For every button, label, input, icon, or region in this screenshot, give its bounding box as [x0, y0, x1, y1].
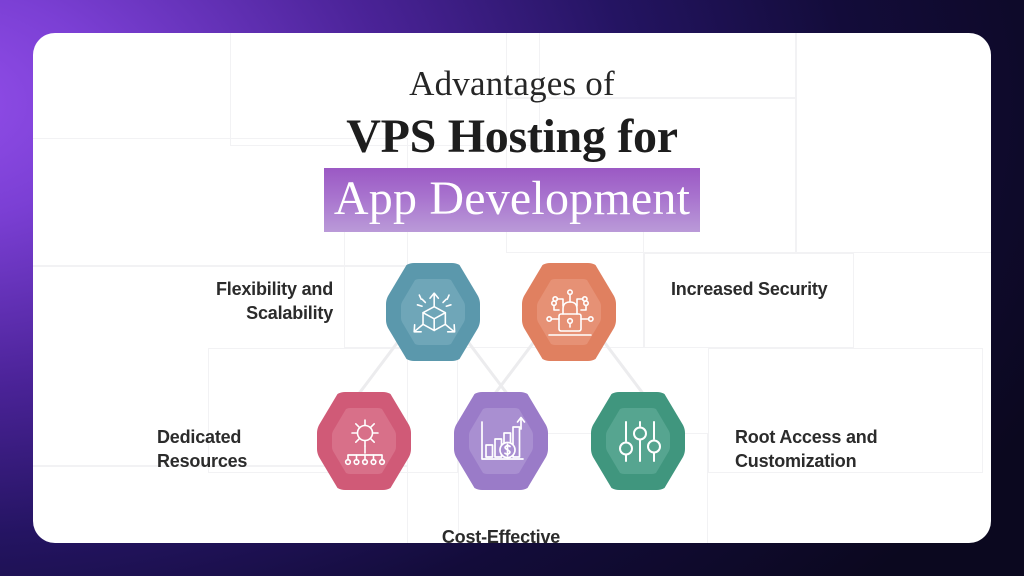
hexagon-cost-effective[interactable] [448, 388, 554, 494]
infographic-card: Advantages of VPS Hosting for App Develo… [33, 33, 991, 543]
label-increased-security: Increased Security [671, 278, 931, 302]
hexagon-root-access-and-customization[interactable] [585, 388, 691, 494]
hexagon-increased-security[interactable] [516, 259, 622, 365]
label-dedicated-resources: Dedicated Resources [157, 426, 332, 474]
sliders-settings-icon [620, 422, 660, 461]
label-cost-effective: Cost-Effective [391, 526, 611, 543]
hexagon-flexibility-and-scalability[interactable] [380, 259, 486, 365]
label-root-access-and-customization: Root Access and Customization [735, 426, 965, 474]
label-flexibility-and-scalability: Flexibility and Scalability [143, 278, 333, 326]
